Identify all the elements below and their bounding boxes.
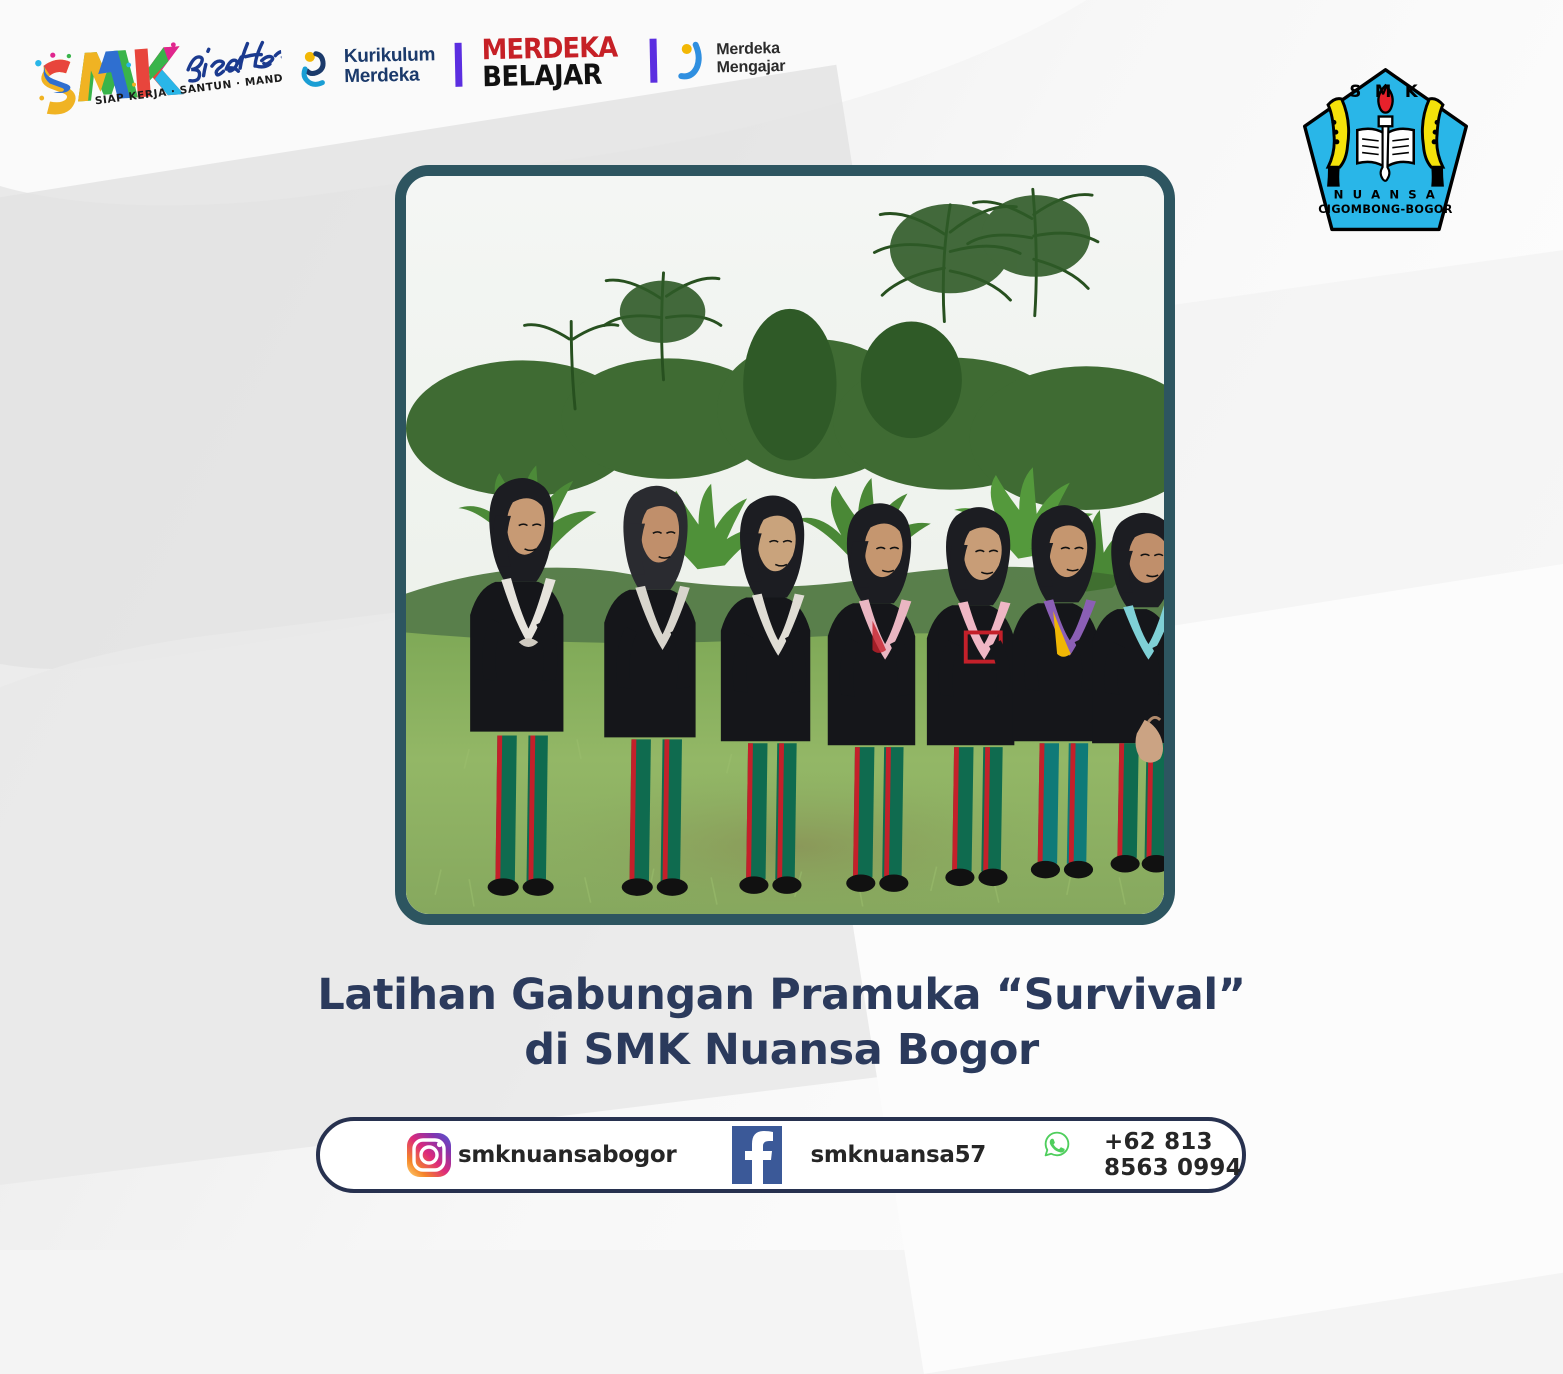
merdeka-belajar-wordmark: MERDEKA BELAJAR (482, 34, 630, 90)
facebook-icon[interactable] (732, 1126, 782, 1184)
merdeka-mengajar-icon (676, 39, 707, 80)
title-line-1: Latihan Gabungan Pramuka “Survival” (0, 968, 1563, 1023)
kurikulum-merdeka-line2: Merdeka (344, 65, 436, 87)
svg-text:N U A N S A: N U A N S A (1334, 187, 1438, 201)
social-facebook[interactable]: smknuansa57 (732, 1126, 986, 1184)
merdeka-belajar-line2: BELAJAR (482, 61, 618, 90)
school-crest-logo: S M K N U A N S A CIGOMBONG-BOGOR (1293, 62, 1478, 247)
instagram-icon[interactable] (406, 1132, 452, 1178)
merdeka-program-logos: Kurikulum Merdeka MERDEKA BELAJAR Merdek… (299, 31, 785, 94)
facebook-handle[interactable]: smknuansa57 (810, 1142, 986, 1168)
svg-text:S M K: S M K (1349, 82, 1421, 101)
title-line-2: di SMK Nuansa Bogor (0, 1023, 1563, 1078)
whatsapp-icon[interactable] (1044, 1131, 1070, 1179)
merdeka-mengajar-line2: Mengajar (717, 58, 786, 77)
whatsapp-number[interactable]: +62 813 8563 0994 (1104, 1129, 1242, 1181)
photo-frame (395, 165, 1175, 925)
logo-divider-2 (649, 38, 657, 82)
activity-photo (406, 176, 1164, 914)
social-contact-bar: smknuansabogor smknuansa57 +62 813 8563 … (316, 1117, 1246, 1193)
smk-bisa-hebat-logo: SIAP KERJA · SANTUN · MANDIRI · KREATIF (27, 19, 284, 118)
page-title: Latihan Gabungan Pramuka “Survival” di S… (0, 968, 1563, 1078)
logo-divider-1 (455, 42, 463, 86)
header-logo-bar: SIAP KERJA · SANTUN · MANDIRI · KREATIF … (0, 0, 1563, 150)
kurikulum-merdeka-wordmark: Kurikulum Merdeka (344, 45, 436, 87)
merdeka-mengajar-wordmark: Merdeka Mengajar (716, 40, 785, 76)
instagram-handle[interactable]: smknuansabogor (458, 1142, 676, 1168)
merdeka-mengajar-line1: Merdeka (716, 40, 785, 59)
social-instagram[interactable]: smknuansabogor (406, 1132, 676, 1178)
kurikulum-merdeka-line1: Kurikulum (344, 45, 436, 67)
social-whatsapp[interactable]: +62 813 8563 0994 (1044, 1129, 1242, 1181)
svg-text:CIGOMBONG-BOGOR: CIGOMBONG-BOGOR (1318, 203, 1453, 216)
kurikulum-merdeka-icon (300, 47, 335, 88)
